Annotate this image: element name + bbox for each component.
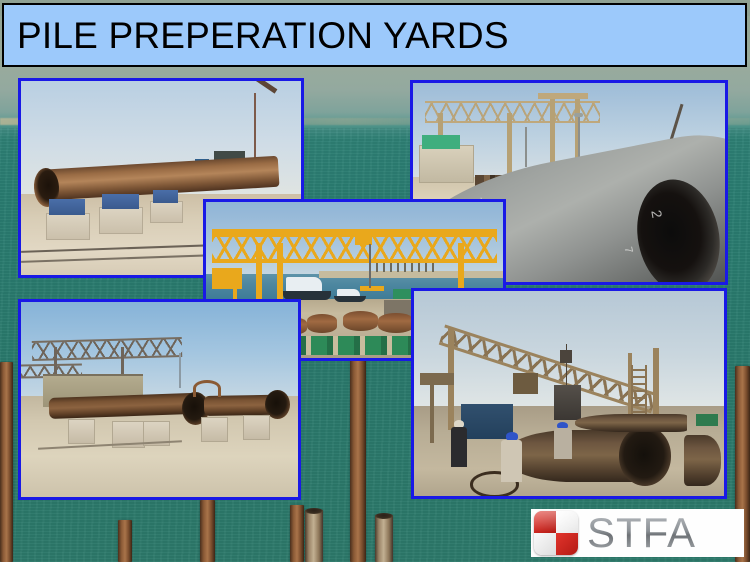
title-bar: PILE PREPERATION YARDS (2, 3, 747, 67)
p5-control-cabin (513, 373, 538, 394)
background-pile-1 (0, 362, 13, 562)
background-pile-7 (375, 515, 393, 562)
background-pile-6 (305, 510, 323, 562)
p5-worker-3 (451, 420, 467, 467)
p5-worker-2-body (554, 428, 573, 459)
p5-worker-2 (554, 422, 573, 459)
p3-gantry-spreader (360, 286, 384, 291)
p2-gantry-leg-2 (507, 113, 512, 179)
background-pile-4 (290, 505, 304, 562)
p5-pipe-pile-main-end (619, 426, 672, 485)
photo-bottom-right (411, 288, 727, 499)
p2-gantry-truss (425, 101, 600, 123)
p5-worker-1-body (501, 440, 523, 481)
p5-worker-1 (501, 432, 523, 481)
p4-concrete-cradle-5 (243, 415, 270, 440)
stfa-logo-text: STFA (587, 512, 696, 554)
p3-vessel-2-hull (334, 296, 367, 302)
p5-crane-mast-rear (653, 348, 659, 422)
p5-suspended-load (554, 385, 582, 420)
logo-quadrant-top-right (556, 511, 578, 533)
p5-small-frame (420, 373, 454, 385)
p3-pile-stack-5 (378, 313, 414, 333)
background-pile-2 (118, 520, 132, 562)
p3-pile-stack-4 (343, 311, 379, 331)
background-pile-7-rim (375, 513, 393, 519)
background-pile-3 (200, 500, 215, 562)
logo-quadrant-top-left (534, 511, 556, 533)
p4-light-pole (179, 353, 181, 388)
p3-hoist-cable (369, 244, 371, 288)
p2-light-pole-2 (525, 127, 527, 167)
p4-concrete-cradle-1 (68, 419, 95, 444)
p3-pile-stack-3 (307, 314, 337, 333)
p5-gantry-leg-left (430, 377, 434, 443)
p3-gantry-top-rail (212, 229, 497, 233)
p5-ladder (631, 365, 647, 420)
p4-shelter-frame (43, 374, 143, 376)
slide: PILE PREPERATION YARDS (0, 0, 750, 562)
photo-bottom-left (18, 299, 301, 500)
p1-steel-saddle-1 (49, 199, 85, 215)
p2-gantry-header (538, 93, 588, 99)
background-pile-6-rim (305, 508, 323, 514)
logo-quadrant-bottom-right (556, 533, 578, 555)
p2-concrete-headstock (419, 145, 474, 183)
p1-concrete-cradle-1 (46, 213, 90, 240)
stfa-logo-mark-icon (534, 511, 578, 555)
logo-quadrant-bottom-left (534, 533, 556, 555)
p1-concrete-cradle-3 (150, 201, 183, 222)
stfa-logo: STFA (531, 509, 744, 557)
p1-concrete-cradle-2 (99, 207, 143, 234)
p5-pipe-pile-right (684, 435, 721, 486)
p5-worker-3-body (451, 427, 467, 467)
p4-concrete-cradle-4 (201, 417, 228, 442)
p5-pipe-pile-rear (575, 414, 687, 432)
page-title: PILE PREPERATION YARDS (4, 17, 509, 54)
p2-green-rebar-bundle (422, 135, 459, 149)
p1-steel-saddle-3 (153, 190, 178, 204)
p5-hook-block (560, 350, 572, 362)
p3-yard-crane-left (212, 268, 242, 290)
background-pile-5 (350, 358, 366, 562)
p1-steel-saddle-2 (102, 194, 138, 210)
p4-lifting-lug (193, 380, 221, 397)
p2-light-head-1 (574, 113, 583, 117)
p5-green-equipment (696, 414, 718, 426)
